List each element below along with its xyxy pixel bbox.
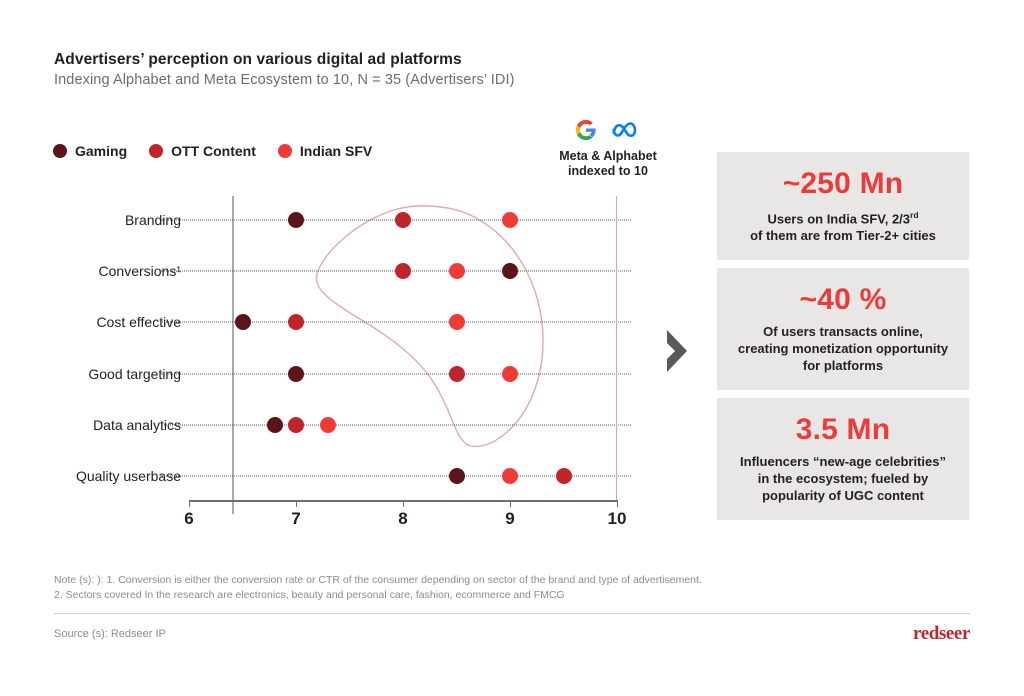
stat-value-influencers: 3.5 Mn <box>729 412 957 448</box>
x-axis-tick-label: 9 <box>505 509 514 529</box>
stat-desc-users-line1: Users on India SFV, 2/3 <box>767 211 910 226</box>
y-axis-labels: BrandingConversions¹Cost effectiveGood t… <box>0 0 181 560</box>
gridline <box>161 424 631 425</box>
gridline <box>161 322 631 323</box>
chevron-right-icon <box>662 328 692 374</box>
data-point[interactable] <box>449 468 465 484</box>
footnote-1: Note (s): ): 1. Conversion is either the… <box>54 573 884 588</box>
stat-value-transacting: ~40 % <box>729 282 957 318</box>
stat-desc-influencers: Influencers “new-age celebrities” in the… <box>729 453 957 504</box>
data-point[interactable] <box>556 468 572 484</box>
data-point[interactable] <box>288 212 304 228</box>
gridline <box>161 373 631 374</box>
stat-desc-transacting: Of users transacts online, creating mone… <box>729 323 957 374</box>
stat-desc-users-sup: rd <box>910 210 919 220</box>
data-point[interactable] <box>235 314 251 330</box>
data-point[interactable] <box>502 212 518 228</box>
stat-card-transacting[interactable]: ~40 % Of users transacts online, creatin… <box>717 268 969 390</box>
data-point[interactable] <box>449 263 465 279</box>
x-axis-tick-label: 7 <box>291 509 300 529</box>
x-axis-tick <box>510 500 511 507</box>
data-point[interactable] <box>502 468 518 484</box>
stat-desc-users-line2: of them are from Tier-2+ cities <box>750 228 936 243</box>
data-point[interactable] <box>320 417 336 433</box>
footnote-2: 2. Sectors covered In the research are e… <box>54 588 884 603</box>
data-point[interactable] <box>288 366 304 382</box>
x-axis-tick-label: 8 <box>398 509 407 529</box>
stat-cards: ~250 Mn Users on India SFV, 2/3rd of the… <box>717 152 969 528</box>
data-point[interactable] <box>502 263 518 279</box>
footer-divider <box>54 613 970 614</box>
data-point[interactable] <box>267 417 283 433</box>
x-axis-tick <box>617 500 618 507</box>
x-axis-tick-label: 6 <box>184 509 193 529</box>
data-point[interactable] <box>449 366 465 382</box>
data-point[interactable] <box>288 314 304 330</box>
stat-desc-influencers-line2: in the ecosystem; fueled by popularity o… <box>758 471 929 503</box>
data-point[interactable] <box>395 212 411 228</box>
stat-desc-users: Users on India SFV, 2/3rd of them are fr… <box>729 207 957 244</box>
x-axis-tick <box>189 500 190 507</box>
reference-line-indexed-to-10 <box>616 196 617 500</box>
data-point[interactable] <box>502 366 518 382</box>
stat-desc-transacting-line1: Of users transacts online, <box>763 324 923 339</box>
source-label: Source (s): Redseer IP <box>54 628 166 640</box>
redseer-logo: redseer <box>913 623 970 645</box>
stat-desc-transacting-line2: creating monetization opportunity for pl… <box>738 341 948 373</box>
stat-card-users[interactable]: ~250 Mn Users on India SFV, 2/3rd of the… <box>717 152 969 260</box>
slide: Advertisers’ perception on various digit… <box>0 0 1024 696</box>
data-point[interactable] <box>395 263 411 279</box>
x-axis-tick <box>296 500 297 507</box>
data-point[interactable] <box>449 314 465 330</box>
stat-desc-influencers-line1: Influencers “new-age celebrities” <box>740 454 946 469</box>
stat-card-influencers[interactable]: 3.5 Mn Influencers “new-age celebrities”… <box>717 398 969 520</box>
scatter-chart: BrandingConversions¹Cost effectiveGood t… <box>0 0 700 560</box>
stat-value-users: ~250 Mn <box>729 166 957 202</box>
x-axis-tick <box>403 500 404 507</box>
footnotes: Note (s): ): 1. Conversion is either the… <box>54 573 884 603</box>
plot-area <box>189 196 617 500</box>
data-point[interactable] <box>288 417 304 433</box>
x-axis-tick-label: 10 <box>608 509 627 529</box>
